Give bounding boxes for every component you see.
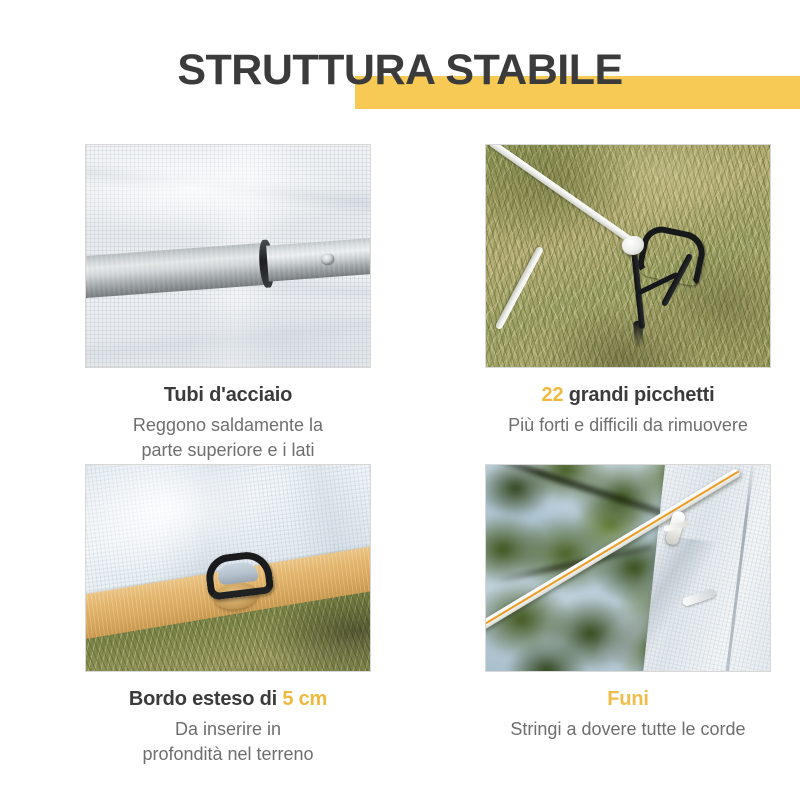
- feature-grid: Tubi d'acciaio Reggono saldamente la par…: [0, 0, 800, 800]
- caption-title-highlight: 5 cm: [282, 688, 327, 710]
- caption-subtitle: Stringi a dovere tutte le corde: [456, 717, 800, 742]
- photo-tarp-edge-d-ring: [85, 464, 371, 672]
- caption-subtitle: Da inserire in profondità nel terreno: [56, 717, 400, 767]
- caption-subtitle-line: profondità nel terreno: [56, 742, 400, 767]
- caption-subtitle-line: parte superiore e i lati: [56, 438, 400, 463]
- feature-panel-guy-ropes: Funi Stringi a dovere tutte le corde: [456, 464, 800, 742]
- photo-guy-rope-tent: [485, 464, 771, 672]
- caption-title-part: Bordo esteso di: [129, 688, 283, 710]
- feature-panel-large-stakes: 22 grandi picchetti Più forti e difficil…: [456, 144, 800, 438]
- stake-tip: [633, 321, 644, 348]
- photo-steel-tube-joint: [85, 144, 371, 368]
- caption-title: Tubi d'acciaio: [56, 382, 400, 408]
- photo-stake-in-grass: [485, 144, 771, 368]
- feature-panel-steel-tubes: Tubi d'acciaio Reggono saldamente la par…: [56, 144, 400, 463]
- caption-extended-edge: Bordo esteso di 5 cm Da inserire in prof…: [56, 686, 400, 767]
- d-ring-frame: [204, 549, 275, 601]
- caption-subtitle: Più forti e difficili da rimuovere: [456, 413, 800, 438]
- caption-title: Bordo esteso di 5 cm: [56, 686, 400, 712]
- caption-large-stakes: 22 grandi picchetti Più forti e difficil…: [456, 382, 800, 438]
- caption-title: Funi: [456, 686, 800, 712]
- caption-title-highlight: 22: [542, 384, 564, 406]
- caption-subtitle: Reggono saldamente la parte superiore e …: [56, 413, 400, 463]
- caption-subtitle-line: Da inserire in: [56, 717, 400, 742]
- caption-title-part: grandi picchetti: [563, 384, 714, 406]
- feature-panel-extended-edge: Bordo esteso di 5 cm Da inserire in prof…: [56, 464, 400, 767]
- caption-subtitle-line: Più forti e difficili da rimuovere: [456, 413, 800, 438]
- caption-subtitle-line: Reggono saldamente la: [56, 413, 400, 438]
- tube-segment-small: [266, 236, 371, 281]
- caption-guy-ropes: Funi Stringi a dovere tutte le corde: [456, 686, 800, 742]
- caption-subtitle-line: Stringi a dovere tutte le corde: [456, 717, 800, 742]
- tube-segment-large: [85, 243, 269, 299]
- caption-title-highlight: Funi: [607, 688, 648, 710]
- d-ring-anchor: [204, 549, 275, 601]
- infographic-poster: STRUTTURA STABILE Tubi d'acciaio: [0, 0, 800, 800]
- caption-title-part: Tubi d'acciaio: [164, 384, 292, 406]
- caption-title: 22 grandi picchetti: [456, 382, 800, 408]
- caption-steel-tubes: Tubi d'acciaio Reggono saldamente la par…: [56, 382, 400, 463]
